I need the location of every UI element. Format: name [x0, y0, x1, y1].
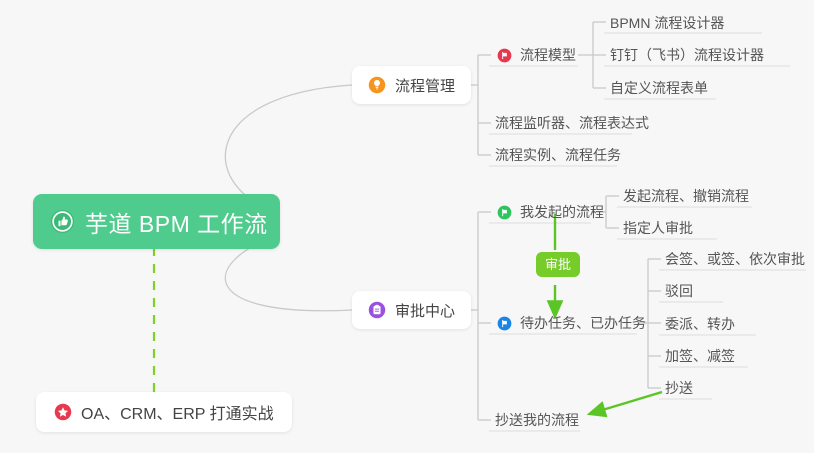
node-label-my-initiated-flows: 我发起的流程	[520, 202, 604, 222]
node-label-flow-instance-task: 流程实例、流程任务	[495, 145, 621, 165]
node-reject[interactable]: 驳回	[659, 278, 699, 304]
node-label-start-cancel-flow: 发起流程、撤销流程	[623, 186, 749, 206]
approval-badge: 审批	[536, 252, 580, 277]
node-label-bpmn-designer: BPMN 流程设计器	[610, 13, 724, 33]
node-add-remove-sign[interactable]: 加签、减签	[659, 343, 741, 369]
node-delegate-transfer[interactable]: 委派、转办	[659, 311, 741, 337]
node-todo-done-tasks[interactable]: 待办任务、已办任务	[491, 310, 652, 336]
flag-icon	[497, 316, 512, 331]
node-label-dingtalk-feishu-designer: 钉钉（飞书）流程设计器	[610, 45, 764, 65]
node-carbon-copy[interactable]: 抄送	[659, 375, 699, 401]
node-flow-model[interactable]: 流程模型	[491, 42, 582, 68]
node-cc-to-me-flows[interactable]: 抄送我的流程	[489, 407, 585, 433]
root-node[interactable]: 芋道 BPM 工作流	[33, 194, 280, 249]
integration-node[interactable]: OA、CRM、ERP 打通实战	[36, 392, 292, 432]
node-label-reject: 驳回	[665, 281, 693, 301]
node-dingtalk-feishu-designer[interactable]: 钉钉（飞书）流程设计器	[604, 42, 770, 68]
node-label-cc-to-me-flows: 抄送我的流程	[495, 410, 579, 430]
integration-node-label: OA、CRM、ERP 打通实战	[81, 400, 274, 424]
node-label-delegate-transfer: 委派、转办	[665, 314, 735, 334]
lightbulb-pin-icon	[368, 76, 386, 94]
star-icon	[54, 403, 72, 421]
node-label-assignee-approval: 指定人审批	[623, 218, 693, 238]
node-custom-flow-form[interactable]: 自定义流程表单	[604, 75, 714, 101]
branch-label-approval-center: 审批中心	[395, 300, 455, 321]
node-my-initiated-flows[interactable]: 我发起的流程	[491, 199, 610, 225]
node-label-flow-model: 流程模型	[520, 45, 576, 65]
branch-node-approval-center[interactable]: 审批中心	[352, 291, 471, 329]
thumbs-up-icon	[50, 209, 75, 234]
flag-icon	[497, 48, 512, 63]
clipboard-icon	[368, 301, 386, 319]
node-label-countersign-or-sequential: 会签、或签、依次审批	[665, 249, 805, 269]
flag-icon	[497, 205, 512, 220]
branch-label-flow-management: 流程管理	[395, 75, 455, 96]
root-label: 芋道 BPM 工作流	[85, 205, 268, 239]
node-assignee-approval[interactable]: 指定人审批	[617, 215, 699, 241]
node-label-carbon-copy: 抄送	[665, 378, 693, 398]
node-start-cancel-flow[interactable]: 发起流程、撤销流程	[617, 183, 755, 209]
node-flow-listener-expression[interactable]: 流程监听器、流程表达式	[489, 110, 655, 136]
node-label-custom-flow-form: 自定义流程表单	[610, 78, 708, 98]
node-bpmn-designer[interactable]: BPMN 流程设计器	[604, 10, 730, 36]
mindmap-canvas: 芋道 BPM 工作流 流程管理 流程模型 BPMN 流程设计器 钉钉（飞书）流程…	[0, 0, 814, 453]
node-countersign-or-sequential[interactable]: 会签、或签、依次审批	[659, 246, 811, 272]
node-flow-instance-task[interactable]: 流程实例、流程任务	[489, 142, 627, 168]
node-label-flow-listener-expression: 流程监听器、流程表达式	[495, 113, 649, 133]
node-label-todo-done-tasks: 待办任务、已办任务	[520, 313, 646, 333]
branch-node-flow-management[interactable]: 流程管理	[352, 66, 471, 104]
node-label-add-remove-sign: 加签、减签	[665, 346, 735, 366]
